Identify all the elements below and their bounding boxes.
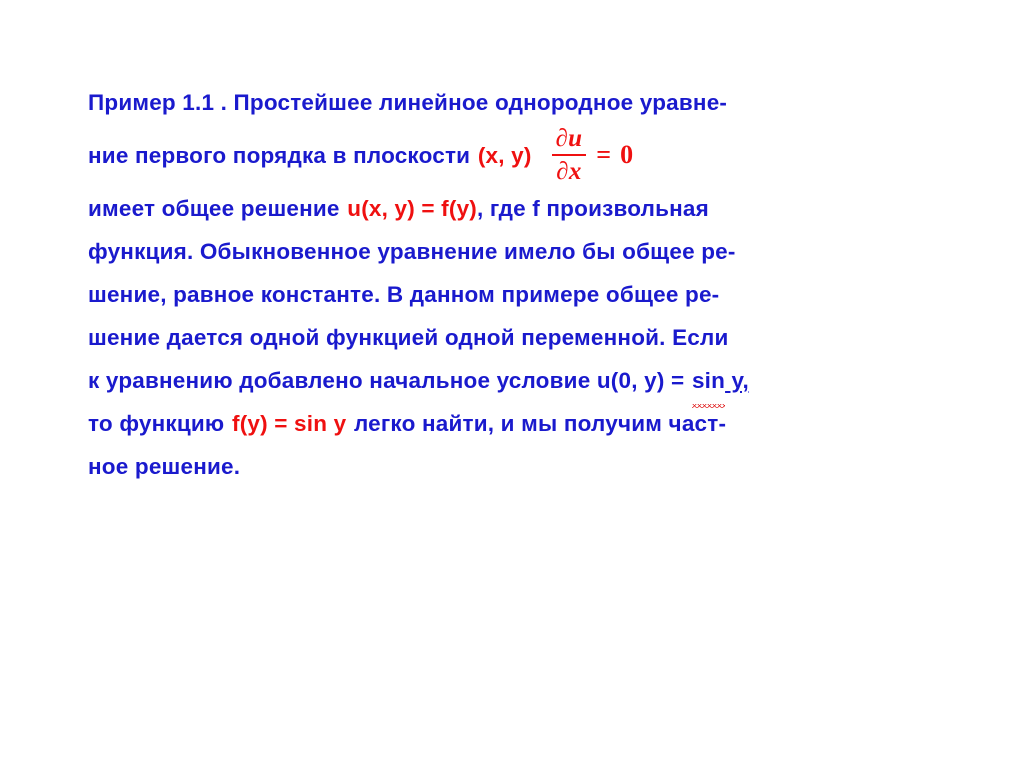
line-7-text-tail: y, [725, 368, 749, 393]
line-2-text-lead: ние первого порядка в плоскости [88, 143, 470, 168]
formula-value-zero: 0 [620, 140, 633, 169]
equals-sign: = [596, 140, 611, 169]
text-line-9: ное решение. [88, 445, 958, 488]
text-line-2: ние первого порядка в плоскости(x, y)∂u∂… [88, 128, 958, 187]
line-9-text: ное решение. [88, 454, 240, 479]
fraction-bar [552, 154, 587, 157]
line-2-variables: (x, y) [478, 143, 532, 168]
general-solution-formula: u(x, y) = f(y) [347, 196, 477, 221]
line-8-text-tail: легко найти, и мы получим част- [354, 411, 726, 436]
spellcheck-misspelled-word: sin [692, 359, 725, 402]
text-line-3: имеет общее решениеu(x, y) = f(y), где f… [88, 187, 958, 230]
slide-body-text: Пример 1.1 . Простейшее линейное однород… [88, 78, 958, 488]
line-5-text: шение, равное константе. В данном пример… [88, 282, 719, 307]
text-line-6: шение дается одной функцией одной переме… [88, 316, 958, 359]
text-line-7: к уравнению добавлено начальное условие … [88, 359, 958, 402]
particular-solution-formula: f(y) = sin y [232, 411, 346, 436]
initial-condition-sin-term: sin y, [692, 368, 749, 393]
line-6-text: шение дается одной функцией одной переме… [88, 325, 729, 350]
text-line-4: функция. Обыкновенное уравнение имело бы… [88, 230, 958, 273]
fraction-numerator: ∂u [552, 126, 587, 153]
formula-right-side: =0 [596, 127, 633, 183]
spellcheck-squiggle-icon [692, 404, 725, 408]
line-1-text: Пример 1.1 . Простейшее линейное однород… [88, 90, 727, 115]
formula-partial-derivative: ∂u∂x=0 [552, 126, 634, 185]
line-3-text-tail: , где f произвольная [477, 196, 709, 221]
line-7-text-lead: к уравнению добавлено начальное условие … [88, 368, 684, 393]
line-3-text-lead: имеет общее решение [88, 196, 340, 221]
line-4-text: функция. Обыкновенное уравнение имело бы… [88, 239, 736, 264]
line-7-sin-word: sin [692, 368, 725, 393]
line-8-text-lead: то функцию [88, 411, 224, 436]
text-line-1: Пример 1.1 . Простейшее линейное однород… [88, 78, 958, 128]
fraction-denominator: ∂x [552, 158, 587, 185]
slide-canvas: Пример 1.1 . Простейшее линейное однород… [0, 0, 1024, 767]
fraction: ∂u∂x [552, 126, 587, 185]
text-line-8: то функциюf(y) = sin yлегко найти, и мы … [88, 402, 958, 445]
text-line-5: шение, равное константе. В данном пример… [88, 273, 958, 316]
